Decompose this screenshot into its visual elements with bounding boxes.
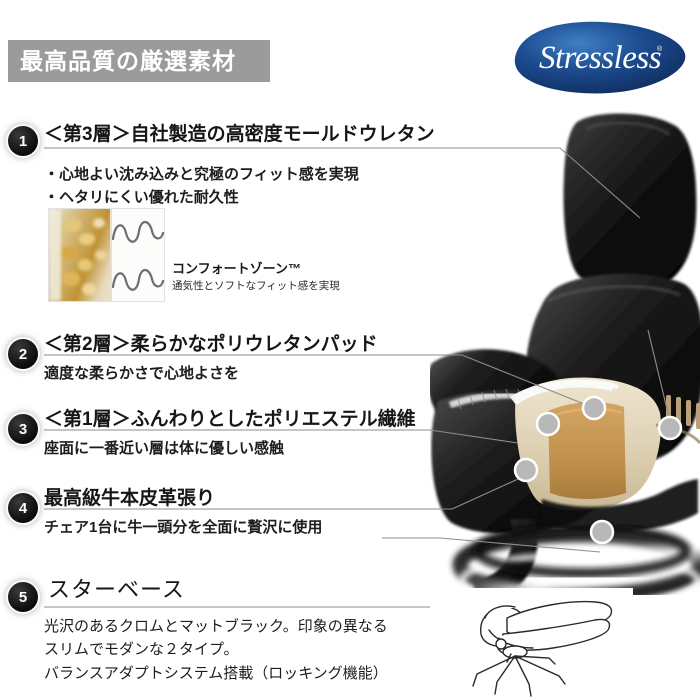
comfort-zone-title: コンフォートゾーン™	[172, 258, 301, 277]
feature-body-5-line-1: 光沢のあるクロムとマットブラック。印象の異なる	[44, 615, 388, 638]
feature-title-4: 最高級牛本皮革張り	[44, 483, 215, 510]
feature-body-5-line-3: バランスアダプトシステム搭載（ロッキング機能）	[44, 662, 388, 685]
feature-badge-2: 2	[8, 339, 38, 369]
svg-text:Stressless: Stressless	[539, 40, 661, 76]
infographic-page: 最高品質の厳選素材 Stressless ®	[0, 0, 700, 700]
feature-body-2-line-1: 適度な柔らかさで心地よさを	[44, 362, 239, 385]
feature-title-3: ＜第1層＞ふんわりとしたポリエステル繊維	[44, 404, 416, 431]
feature-body-1-line-1: ・心地よい沈み込みと究極のフィット感を実現	[44, 163, 359, 186]
feature-title-2: ＜第2層＞柔らかなポリウレタンパッド	[44, 329, 378, 356]
feature-body-2: 適度な柔らかさで心地よさを	[44, 362, 239, 385]
feature-body-5: 光沢のあるクロムとマットブラック。印象の異なる スリムでモダンな２タイプ。 バラ…	[44, 615, 388, 685]
section-header-band: 最高品質の厳選素材	[8, 40, 270, 82]
feature-badge-1: 1	[8, 126, 38, 156]
comfort-zone-foam-photo	[48, 208, 165, 302]
svg-text:®: ®	[657, 45, 663, 53]
feature-badge-4: 4	[8, 493, 38, 523]
stressless-recliner-cutaway-photo	[430, 95, 700, 595]
feature-title-1: ＜第3層＞自社製造の高密度モールドウレタン	[44, 119, 435, 146]
feature-body-3-line-1: 座面に一番近い層は体に優しい感触	[44, 437, 284, 460]
feature-body-3: 座面に一番近い層は体に優しい感触	[44, 437, 284, 460]
section-header-title: 最高品質の厳選素材	[8, 50, 236, 73]
star-base-line-drawing	[463, 588, 633, 700]
feature-badge-3: 3	[8, 414, 38, 444]
feature-body-4: チェア1台に牛一頭分を全面に贅沢に使用	[44, 516, 322, 539]
feature-body-1-line-2: ・ヘタリにくい優れた耐久性	[44, 186, 359, 209]
feature-body-1: ・心地よい沈み込みと究極のフィット感を実現 ・ヘタリにくい優れた耐久性	[44, 163, 359, 210]
feature-body-4-line-1: チェア1台に牛一頭分を全面に贅沢に使用	[44, 516, 322, 539]
feature-title-5: スターベース	[48, 572, 185, 604]
feature-body-5-line-2: スリムでモダンな２タイプ。	[44, 638, 388, 661]
feature-badge-5: 5	[8, 582, 38, 612]
stressless-logo: Stressless ®	[505, 18, 690, 98]
comfort-zone-subtitle: 通気性とソフトなフィット感を実現	[172, 278, 340, 293]
